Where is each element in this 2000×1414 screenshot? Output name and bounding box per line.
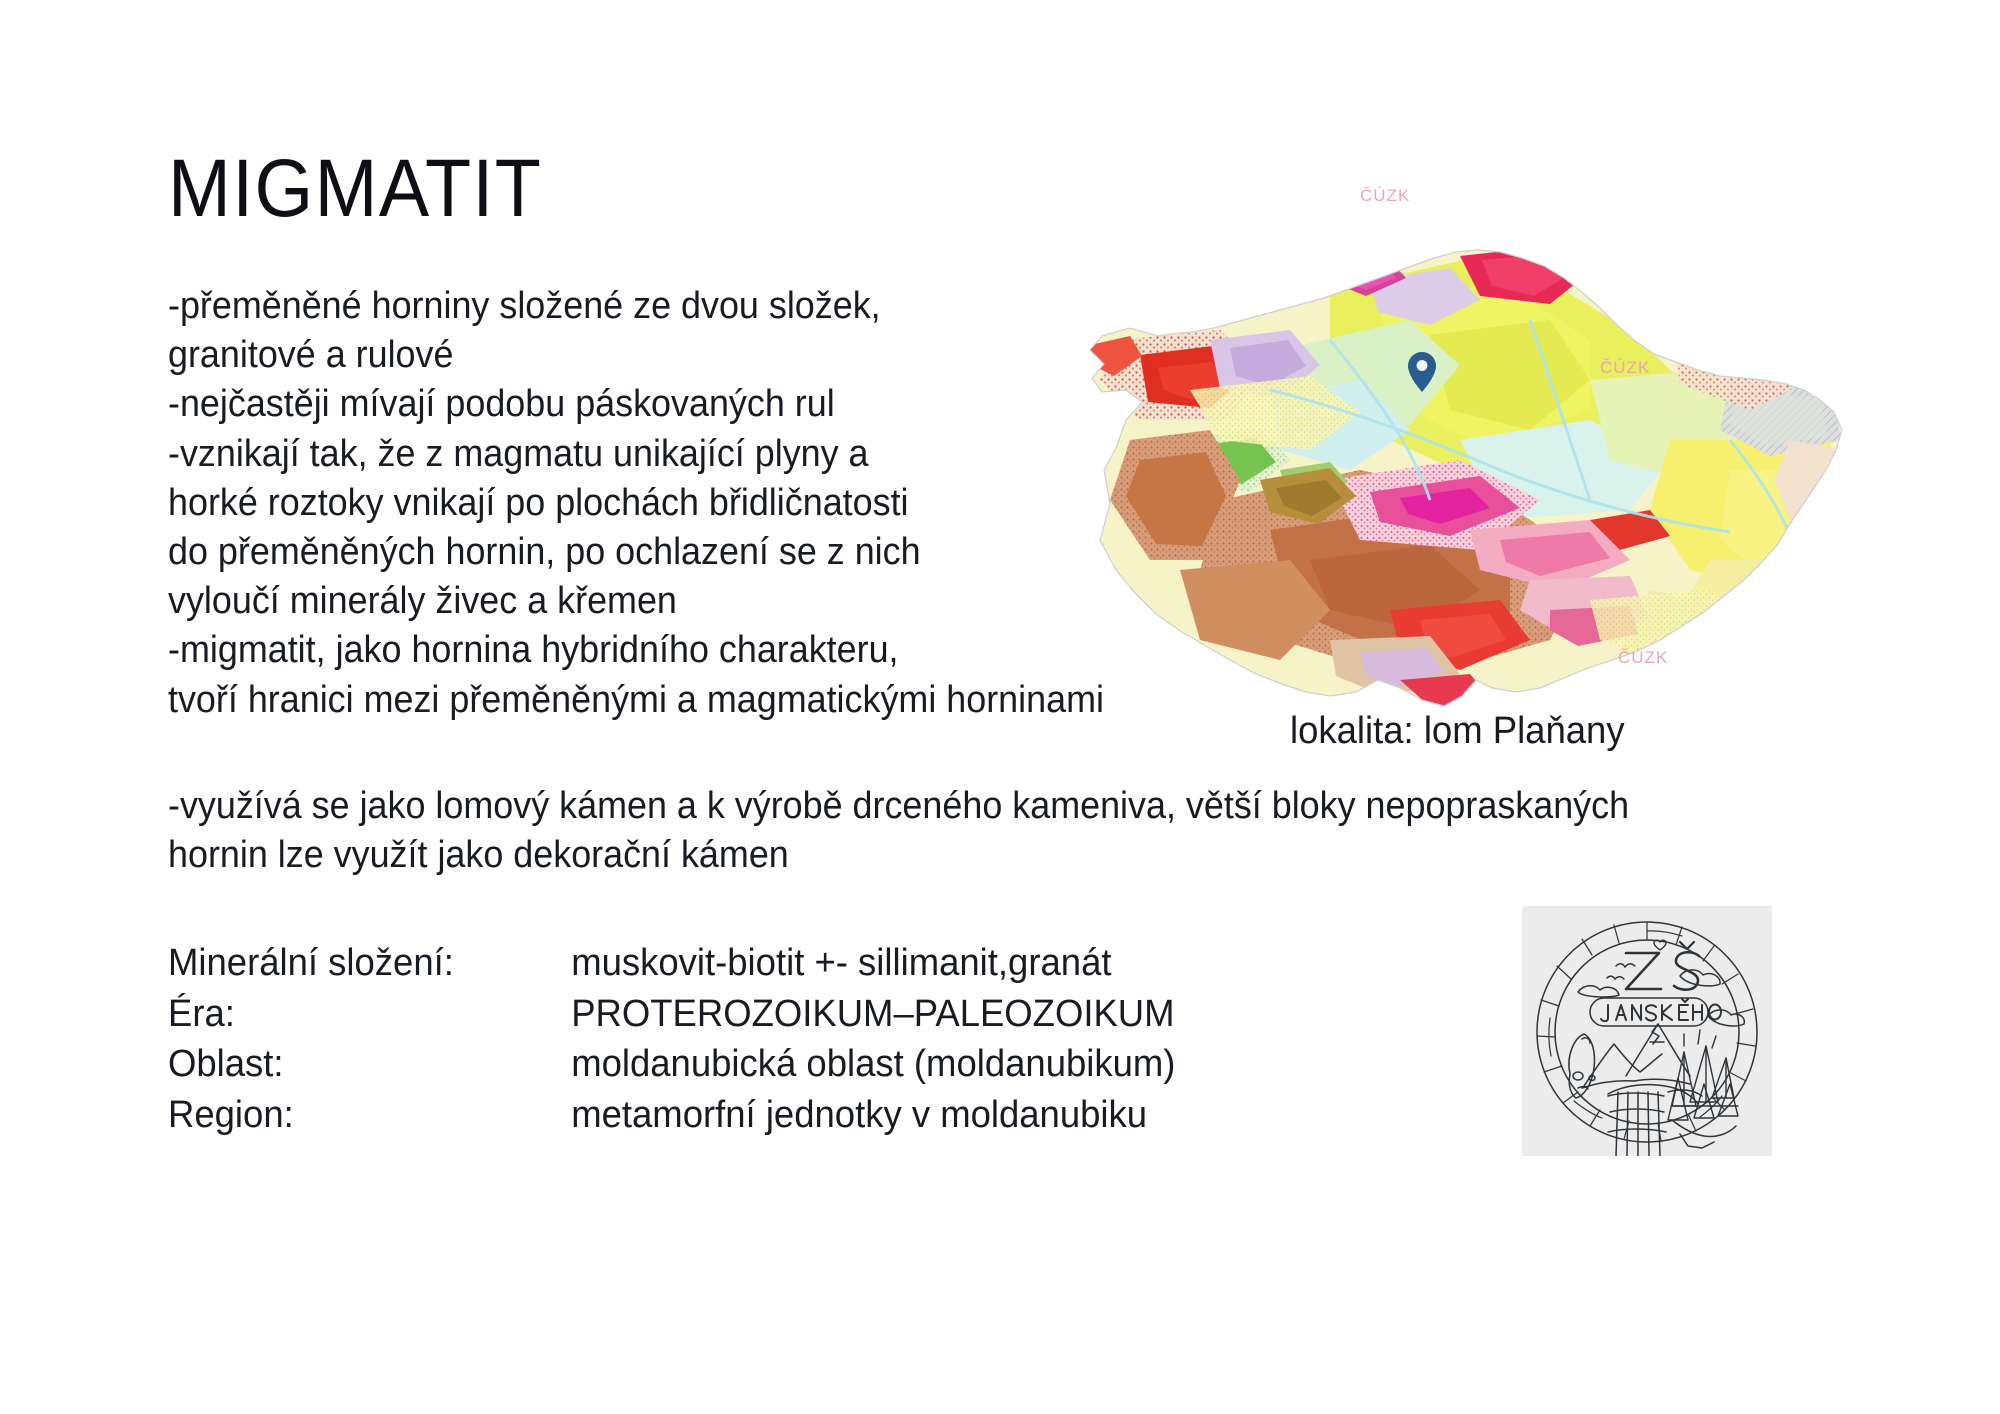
geological-map-figure: ČÚZK ČÚZK ČÚZK: [1030, 140, 1910, 720]
properties-table: Minerální složení: muskovit-biotit +- si…: [168, 938, 1175, 1140]
property-value: moldanubická oblast (moldanubikum): [571, 1039, 1175, 1090]
rock-usage: -využívá se jako lomový kámen a k výrobě…: [168, 782, 1831, 881]
page-title: MIGMATIT: [168, 148, 542, 230]
property-value: metamorfní jednotky v moldanubiku: [571, 1090, 1175, 1141]
property-value: muskovit-biotit +- sillimanit,granát: [571, 938, 1175, 989]
property-label: Region:: [168, 1090, 571, 1141]
property-label: Éra:: [168, 989, 571, 1040]
table-row: Minerální složení: muskovit-biotit +- si…: [168, 938, 1175, 989]
cuzk-watermark: ČÚZK: [1360, 186, 1410, 206]
property-value: PROTEROZOIKUM–PALEOZOIKUM: [571, 989, 1175, 1040]
location-pin-icon[interactable]: [1408, 352, 1436, 392]
zs-janskeho-emblem: [1522, 906, 1772, 1156]
property-label: Oblast:: [168, 1039, 571, 1090]
geological-map-of-czechia: [1030, 140, 1910, 720]
map-caption: lokalita: lom Plaňany: [1290, 710, 1625, 753]
property-label: Minerální složení:: [168, 938, 571, 989]
cuzk-watermark: ČÚZK: [1618, 648, 1668, 668]
school-logo: [1522, 906, 1772, 1156]
map-polygons: [1030, 140, 1910, 720]
table-row: Region: metamorfní jednotky v moldanubik…: [168, 1090, 1175, 1141]
usage-line: -využívá se jako lomový kámen a k výrobě…: [168, 782, 1831, 831]
table-row: Éra: PROTEROZOIKUM–PALEOZOIKUM: [168, 989, 1175, 1040]
usage-line: hornin lze využít jako dekorační kámen: [168, 831, 1831, 880]
table-row: Oblast: moldanubická oblast (moldanubiku…: [168, 1039, 1175, 1090]
cuzk-watermark: ČÚZK: [1600, 358, 1650, 378]
